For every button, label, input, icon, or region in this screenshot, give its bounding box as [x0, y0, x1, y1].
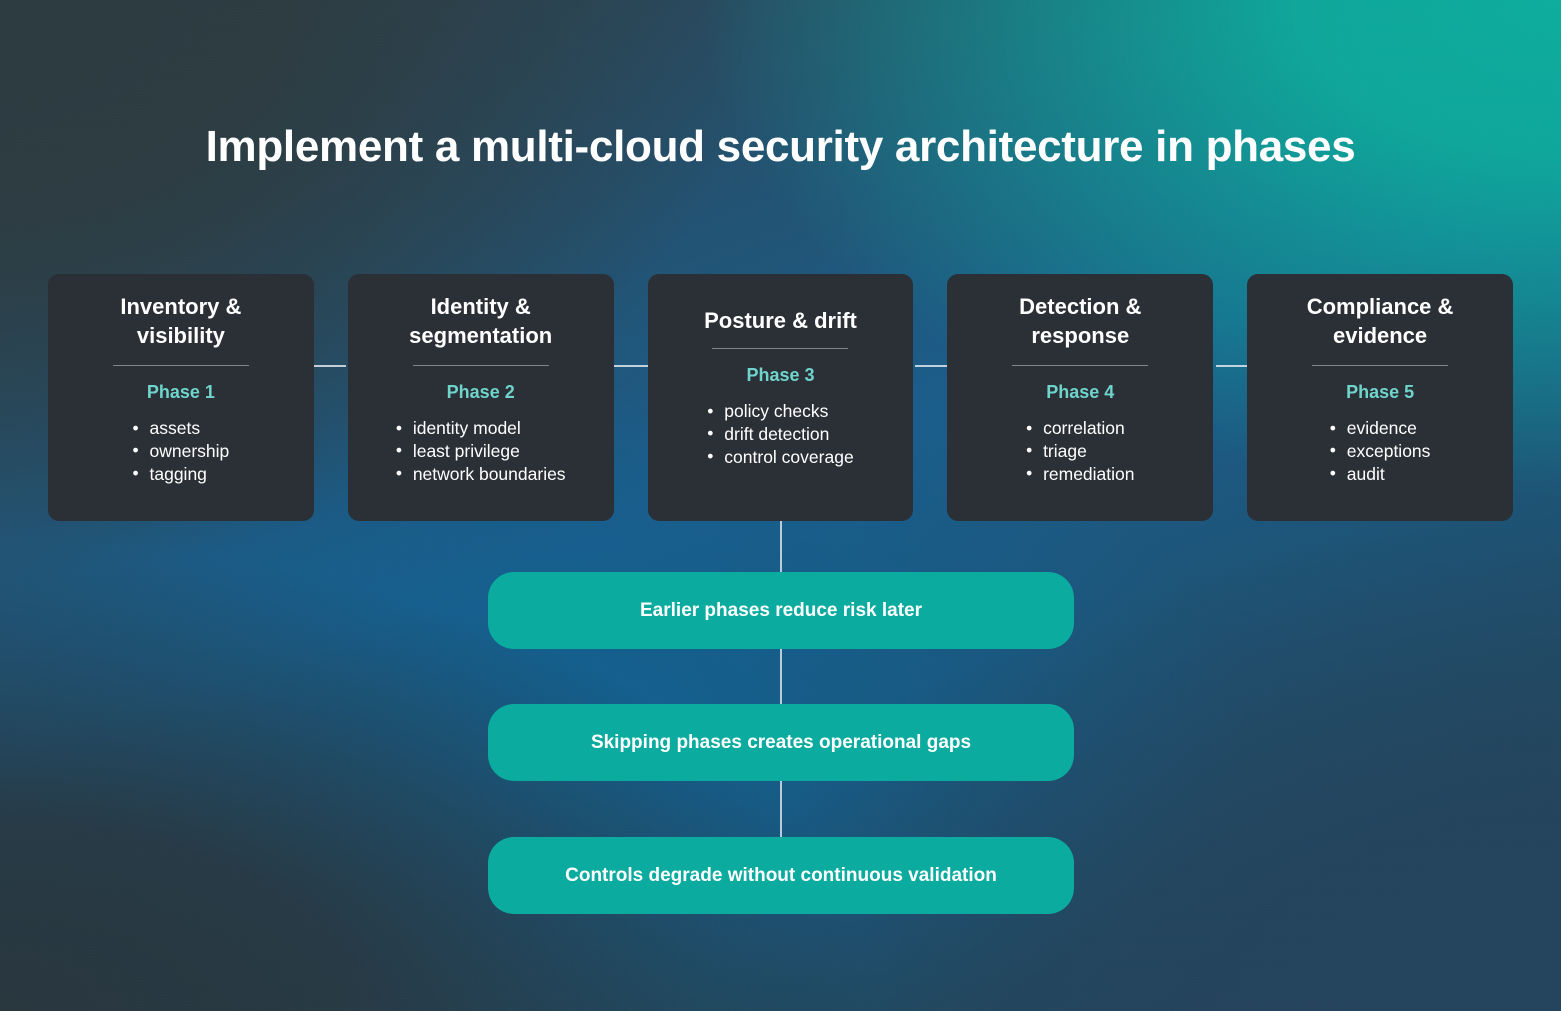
- phase-card-bullet-list: correlation triage remediation: [1026, 417, 1134, 485]
- list-item: ownership: [133, 440, 230, 463]
- list-item: least privilege: [396, 440, 566, 463]
- connector-card3-outcome1: [780, 521, 782, 572]
- list-item: drift detection: [707, 423, 853, 446]
- phase-card-bullet-list: assets ownership tagging: [133, 417, 230, 485]
- slide-canvas: Implement a multi-cloud security archite…: [0, 0, 1561, 1011]
- phase-card-5[interactable]: Compliance & evidence Phase 5 evidence e…: [1247, 274, 1513, 521]
- list-item: remediation: [1026, 463, 1134, 486]
- list-item: network boundaries: [396, 463, 566, 486]
- phase-card-phase-label: Phase 5: [1346, 382, 1414, 403]
- phase-card-row: Inventory & visibility Phase 1 assets ow…: [48, 274, 1513, 521]
- outcome-pill-2[interactable]: Skipping phases creates operational gaps: [488, 704, 1074, 781]
- phase-card-divider: [1012, 365, 1148, 366]
- phase-card-title: Compliance & evidence: [1280, 292, 1480, 350]
- list-item: audit: [1330, 463, 1431, 486]
- connector-outcome1-outcome2: [780, 649, 782, 704]
- phase-card-divider: [1312, 365, 1448, 366]
- page-title: Implement a multi-cloud security archite…: [0, 122, 1561, 173]
- list-item: exceptions: [1330, 440, 1431, 463]
- list-item: assets: [133, 417, 230, 440]
- phase-card-divider: [712, 348, 848, 349]
- connector-outcome2-outcome3: [780, 781, 782, 837]
- outcome-pill-3[interactable]: Controls degrade without continuous vali…: [488, 837, 1074, 914]
- phase-card-phase-label: Phase 3: [746, 365, 814, 386]
- list-item: policy checks: [707, 400, 853, 423]
- phase-card-bullet-list: policy checks drift detection control co…: [707, 400, 853, 468]
- phase-card-bullet-list: evidence exceptions audit: [1330, 417, 1431, 485]
- list-item: control coverage: [707, 446, 853, 469]
- outcome-pill-1[interactable]: Earlier phases reduce risk later: [488, 572, 1074, 649]
- list-item: triage: [1026, 440, 1134, 463]
- phase-card-phase-label: Phase 2: [447, 382, 515, 403]
- list-item: tagging: [133, 463, 230, 486]
- phase-card-divider: [113, 365, 249, 366]
- list-item: evidence: [1330, 417, 1431, 440]
- phase-card-phase-label: Phase 4: [1046, 382, 1114, 403]
- phase-card-title: Identity & segmentation: [381, 292, 581, 350]
- list-item: correlation: [1026, 417, 1134, 440]
- phase-card-2[interactable]: Identity & segmentation Phase 2 identity…: [348, 274, 614, 521]
- phase-card-title: Detection & response: [980, 292, 1180, 350]
- list-item: identity model: [396, 417, 566, 440]
- phase-card-4[interactable]: Detection & response Phase 4 correlation…: [947, 274, 1213, 521]
- phase-card-3[interactable]: Posture & drift Phase 3 policy checks dr…: [648, 274, 914, 521]
- phase-card-1[interactable]: Inventory & visibility Phase 1 assets ow…: [48, 274, 314, 521]
- phase-card-phase-label: Phase 1: [147, 382, 215, 403]
- phase-card-title: Posture & drift: [704, 306, 857, 335]
- phase-card-divider: [413, 365, 549, 366]
- phase-card-title: Inventory & visibility: [81, 292, 281, 350]
- phase-card-bullet-list: identity model least privilege network b…: [396, 417, 566, 485]
